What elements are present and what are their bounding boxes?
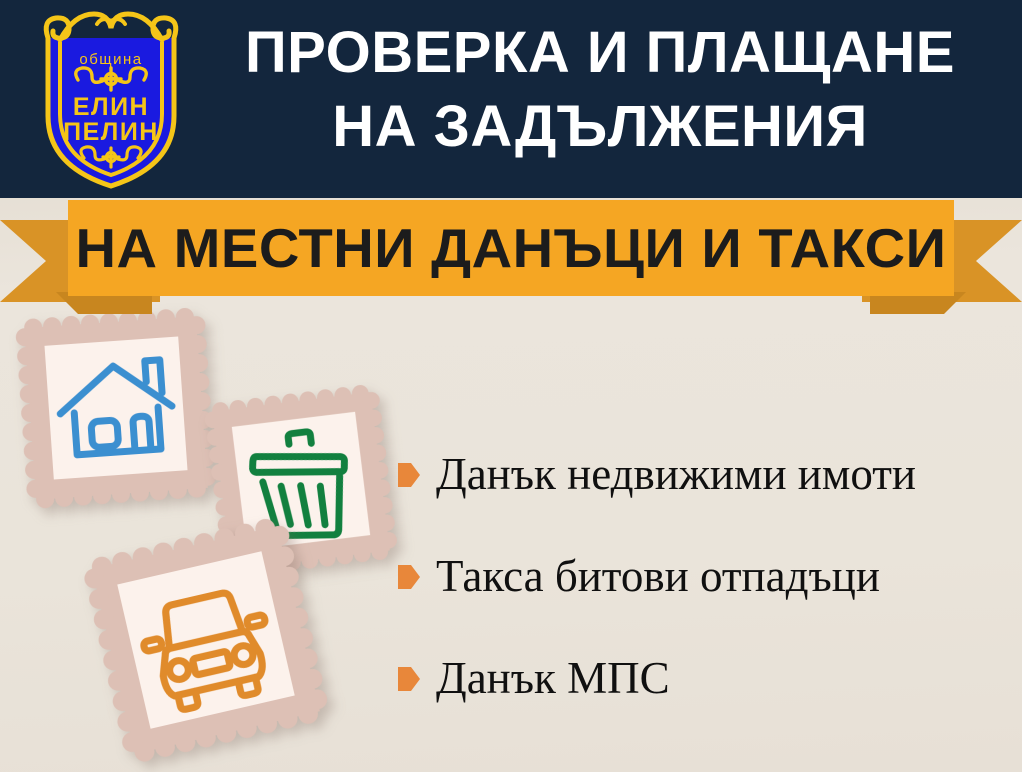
list-item[interactable]: Данък МПС — [398, 628, 1008, 730]
poster-canvas: община ЕЛИН ПЕЛИН — [0, 0, 1022, 772]
svg-text:ЕЛИН: ЕЛИН — [73, 93, 149, 121]
arrow-bullet-icon — [398, 667, 420, 691]
coat-of-arms-icon: община ЕЛИН ПЕЛИН — [22, 8, 200, 192]
tax-type-list: Данък недвижими имоти Такса битови отпад… — [398, 424, 1008, 730]
list-item-label: Данък недвижими имоти — [436, 451, 916, 498]
stamp-card-house — [14, 306, 219, 511]
svg-text:ПЕЛИН: ПЕЛИН — [63, 118, 159, 146]
arrow-bullet-icon — [398, 463, 420, 487]
page-title: ПРОВЕРКА И ПЛАЩАНЕ НА ЗАДЪЛЖЕНИЯ — [190, 16, 1010, 164]
list-item-label: Такса битови отпадъци — [436, 553, 880, 600]
header-bar: община ЕЛИН ПЕЛИН — [0, 0, 1022, 198]
list-item[interactable]: Такса битови отпадъци — [398, 526, 1008, 628]
page-title-line-1: ПРОВЕРКА И ПЛАЩАНЕ — [190, 16, 1010, 90]
list-item-label: Данък МПС — [436, 655, 670, 702]
svg-text:община: община — [79, 51, 142, 68]
list-item[interactable]: Данък недвижими имоти — [398, 424, 1008, 526]
arrow-bullet-icon — [398, 565, 420, 589]
ribbon-banner: НА МЕСТНИ ДАНЪЦИ И ТАКСИ — [0, 196, 1022, 316]
page-title-line-2: НА ЗАДЪЛЖЕНИЯ — [190, 90, 1010, 164]
ribbon-label: НА МЕСТНИ ДАНЪЦИ И ТАКСИ — [59, 200, 963, 296]
